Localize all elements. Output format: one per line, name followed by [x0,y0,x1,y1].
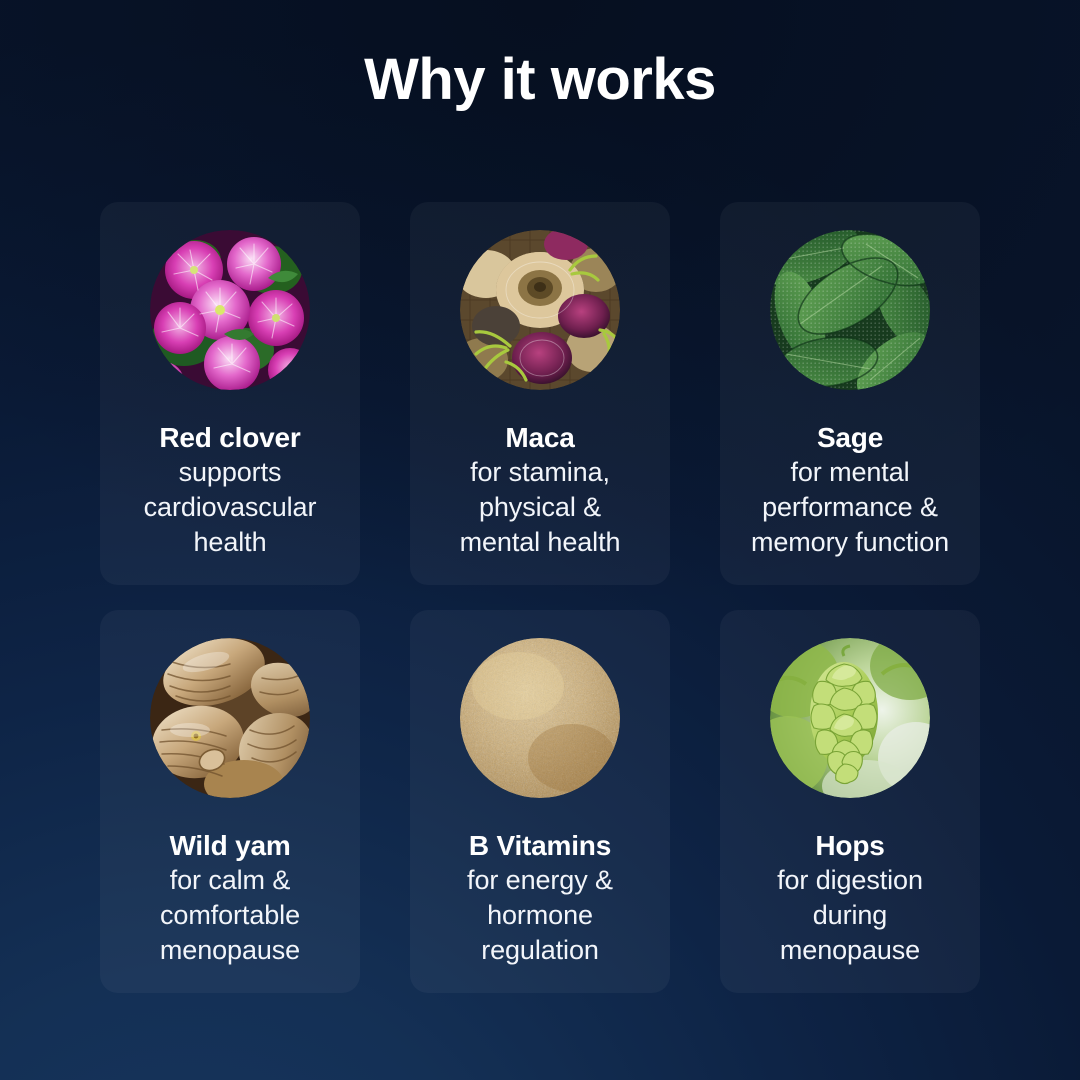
ingredient-card-red-clover[interactable]: Red clover supports cardiovascular healt… [100,202,360,585]
wild-yam-icon [150,638,310,798]
ingredient-card-grid: Red clover supports cardiovascular healt… [100,202,980,993]
card-text-hops: Hops for digestion during menopause [720,828,980,968]
ingredient-card-wild-yam[interactable]: Wild yam for calm & comfortable menopaus… [100,610,360,993]
card-description: for mental performance & memory function [722,455,978,560]
card-description: for stamina, physical & mental health [412,455,668,560]
card-title: Sage [722,420,978,455]
card-text-wild-yam: Wild yam for calm & comfortable menopaus… [100,828,360,968]
maca-root-icon [460,230,620,390]
card-description: for energy & hormone regulation [412,863,668,968]
ingredient-card-maca[interactable]: Maca for stamina, physical & mental heal… [410,202,670,585]
card-description: supports cardiovascular health [102,455,358,560]
hops-cone-icon [770,638,930,798]
ingredient-card-hops[interactable]: Hops for digestion during menopause [720,610,980,993]
card-title: B Vitamins [412,828,668,863]
card-description: for calm & comfortable menopause [102,863,358,968]
page-title: Why it works [0,48,1080,112]
promo-graphic: Why it works [0,0,1080,1080]
card-title: Maca [412,420,668,455]
sage-leaves-icon [770,230,930,390]
card-text-b-vitamins: B Vitamins for energy & hormone regulati… [410,828,670,968]
card-description: for digestion during menopause [722,863,978,968]
card-title: Hops [722,828,978,863]
ingredient-card-sage[interactable]: Sage for mental performance & memory fun… [720,202,980,585]
card-text-maca: Maca for stamina, physical & mental heal… [410,420,670,560]
card-title: Wild yam [102,828,358,863]
b-vitamins-powder-icon [460,638,620,798]
card-text-sage: Sage for mental performance & memory fun… [720,420,980,560]
card-text-red-clover: Red clover supports cardiovascular healt… [100,420,360,560]
ingredient-card-b-vitamins[interactable]: B Vitamins for energy & hormone regulati… [410,610,670,993]
card-title: Red clover [102,420,358,455]
red-clover-icon [150,230,310,390]
